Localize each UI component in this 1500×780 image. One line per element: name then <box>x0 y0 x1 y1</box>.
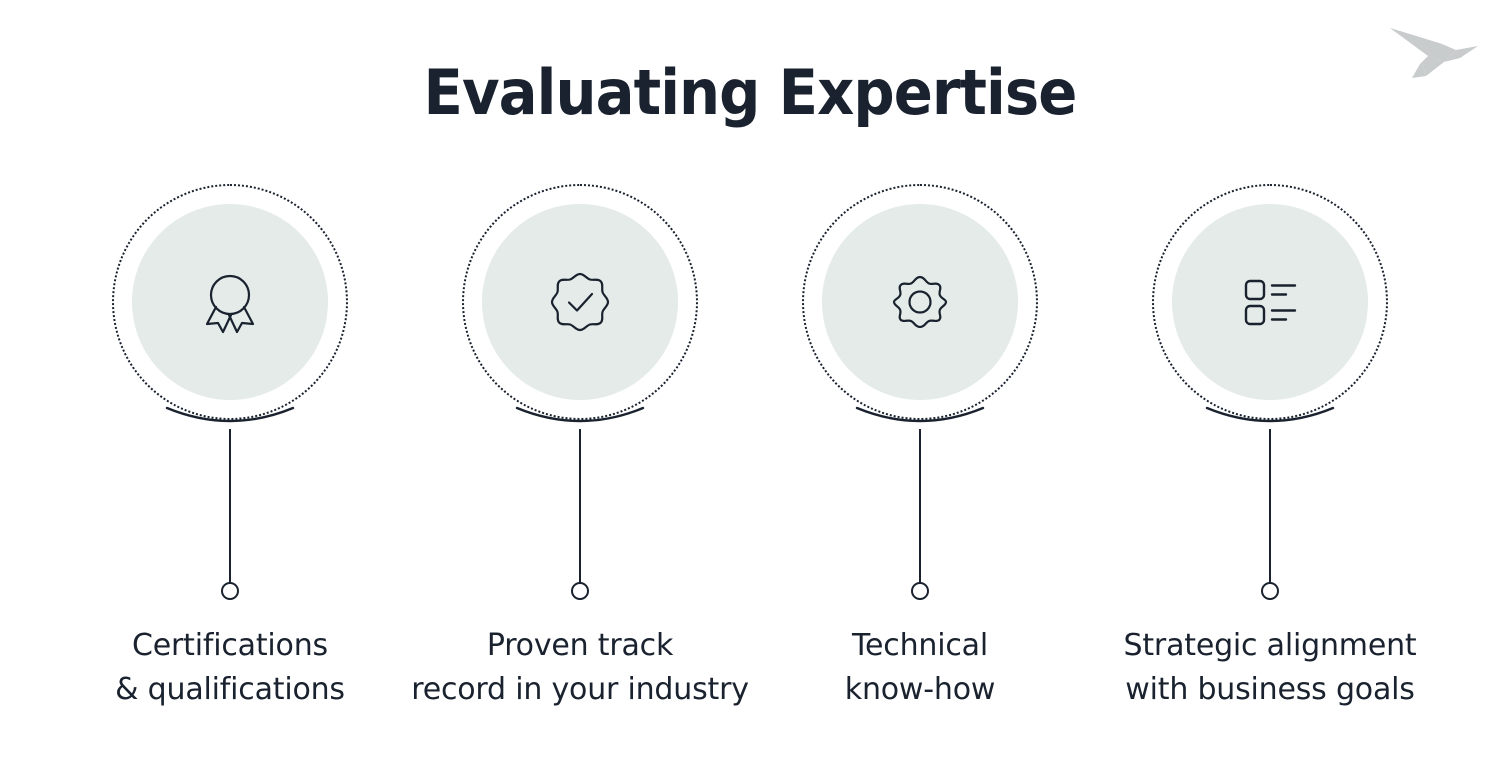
connector-end-dot <box>1261 582 1279 600</box>
label-line-1: Strategic alignment <box>1124 628 1417 663</box>
gear-cog-icon <box>885 267 955 337</box>
column-label-technical-know-how: Technical know-how <box>730 624 1110 712</box>
award-ribbon-icon <box>195 267 265 337</box>
column-technical-know-how: Technical know-how <box>790 184 1050 444</box>
column-certifications: Certifications & qualifications <box>100 184 360 444</box>
connector-line <box>229 429 231 584</box>
badge-strategic-alignment <box>1140 184 1400 444</box>
infographic-columns: Certifications & qualifications Proven t… <box>0 0 1500 780</box>
connector-end-dot <box>911 582 929 600</box>
connector-line <box>579 429 581 584</box>
badge-certifications <box>100 184 360 444</box>
connector-line <box>1269 429 1271 584</box>
badge-technical-know-how <box>790 184 1050 444</box>
badge-proven-track-record <box>450 184 710 444</box>
column-label-strategic-alignment: Strategic alignment with business goals <box>1080 624 1460 712</box>
label-line-2: with business goals <box>1080 668 1460 712</box>
label-line-2: know-how <box>730 668 1110 712</box>
label-line-1: Certifications <box>132 628 328 663</box>
column-strategic-alignment: Strategic alignment with business goals <box>1140 184 1400 444</box>
label-line-2: record in your industry <box>390 668 770 712</box>
label-line-1: Proven track <box>487 628 673 663</box>
connector-end-dot <box>571 582 589 600</box>
label-line-2: & qualifications <box>40 668 420 712</box>
checklist-tasks-icon <box>1235 267 1305 337</box>
column-proven-track-record: Proven track record in your industry <box>450 184 710 444</box>
verified-badge-check-icon <box>545 267 615 337</box>
column-label-certifications: Certifications & qualifications <box>40 624 420 712</box>
label-line-1: Technical <box>852 628 988 663</box>
connector-end-dot <box>221 582 239 600</box>
column-label-proven-track-record: Proven track record in your industry <box>390 624 770 712</box>
connector-line <box>919 429 921 584</box>
